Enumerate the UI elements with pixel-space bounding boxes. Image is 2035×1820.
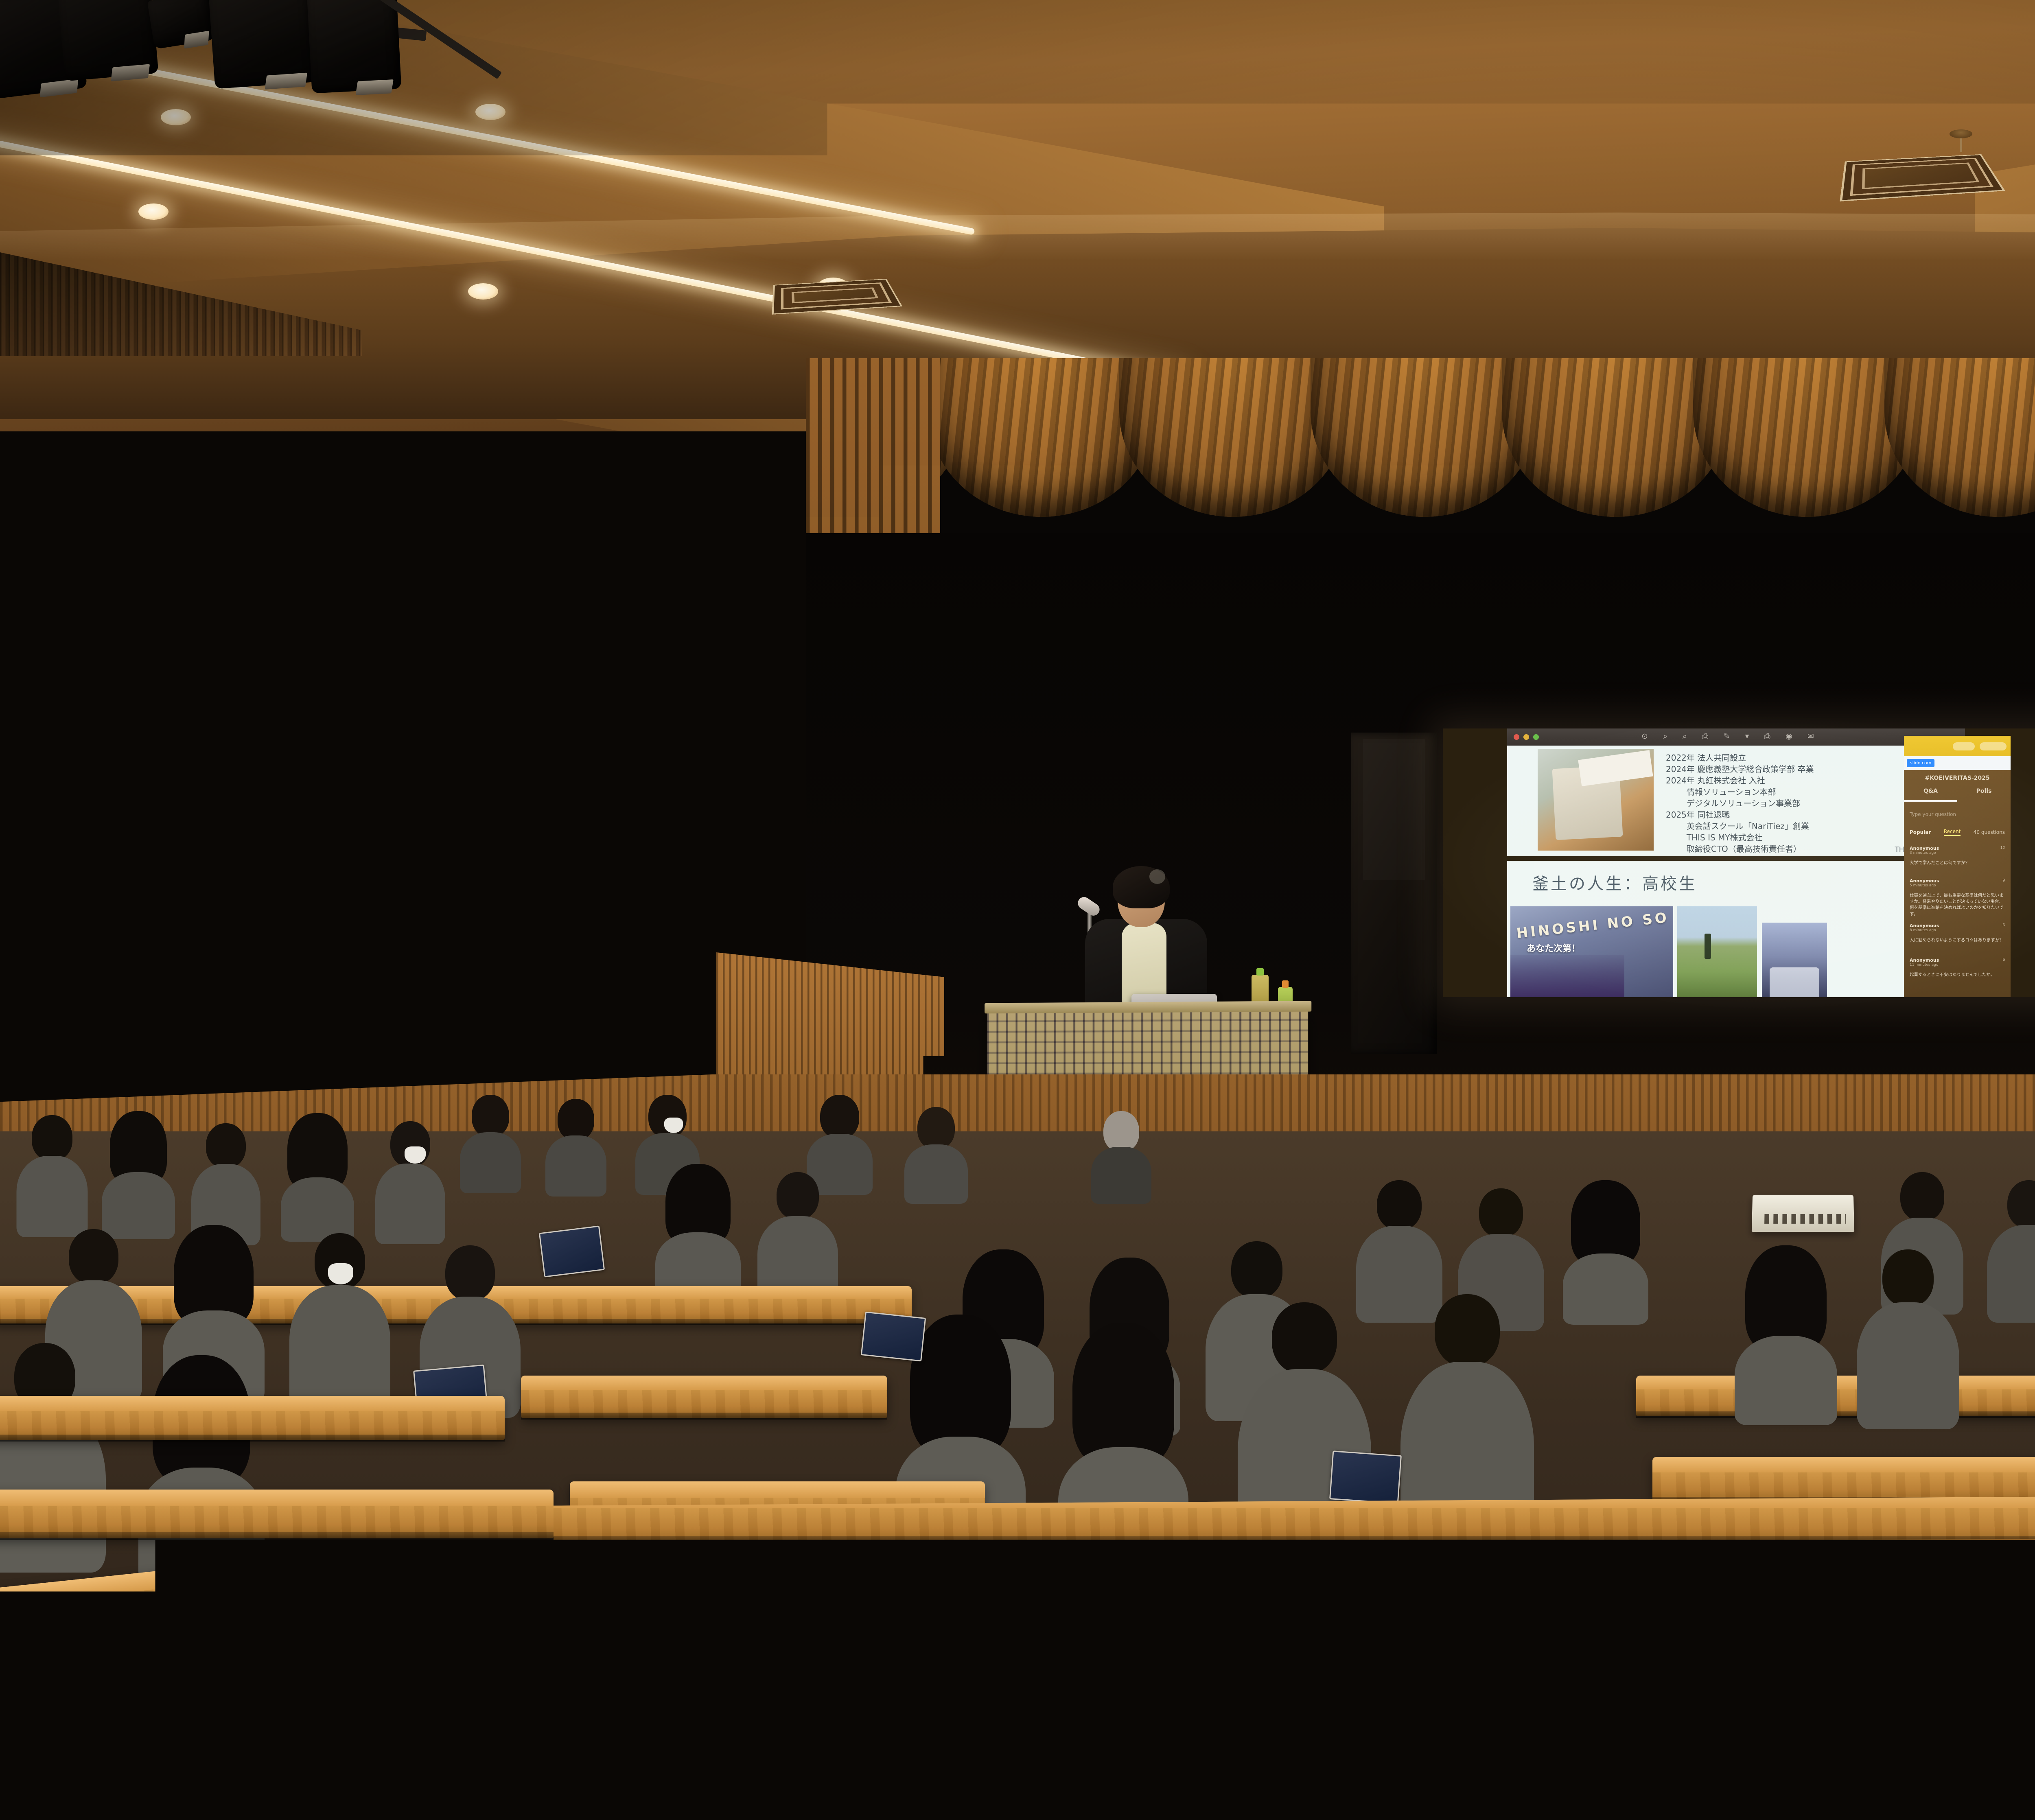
browser-pill-b[interactable] (1980, 742, 2007, 750)
audience-person (289, 1233, 391, 1408)
tablet-device[interactable] (861, 1311, 926, 1361)
slido-tabs[interactable]: Q&A Polls (1904, 788, 2011, 802)
recessed-downlight-icon (468, 283, 498, 300)
podium-top-surface (985, 1001, 1311, 1013)
audience-person (16, 1115, 88, 1237)
audience-person (545, 1099, 606, 1192)
qa-vote-count[interactable]: 5 (2002, 958, 2005, 962)
banner-headline: HINOSHI NO SO (1516, 908, 1673, 942)
banner-subline: あなた次第！ (1527, 941, 1580, 954)
slide-upper: 2022年 法人共同設立 2024年 慶應義塾大学総合政策学部 卒業 2024年… (1507, 746, 1965, 856)
qa-timestamp: 3 minutes ago (1910, 851, 2005, 855)
tablet-device[interactable] (539, 1225, 605, 1277)
sprinkler-head-icon (1950, 129, 1972, 138)
slido-sort-row[interactable]: Popular Recent 40 questions (1910, 829, 2005, 836)
audience-person (1986, 1180, 2035, 1323)
bench-row[interactable] (0, 1396, 505, 1440)
qa-vote-count[interactable]: 9 (2002, 878, 2005, 883)
bench-leg (460, 1693, 479, 1820)
slido-event-code: #KOEIVERITAS-2025 (1904, 775, 2011, 781)
qa-timestamp: 8 minutes ago (1910, 928, 2005, 932)
qa-list-item[interactable]: Anonymous 3 minutes ago 12 大学で学んだことは何ですか… (1910, 846, 2005, 866)
recessed-downlight-icon (475, 104, 505, 120)
qa-vote-count[interactable]: 12 (2000, 846, 2005, 850)
question-count: 40 questions (1974, 829, 2005, 835)
tab-polls[interactable]: Polls (1957, 788, 2011, 802)
window-close-dot-icon[interactable] (1514, 734, 1519, 740)
slido-qa-panel[interactable]: slido.com #KOEIVERITAS-2025 Q&A Polls Ty… (1904, 736, 2011, 997)
audience-person (1856, 1249, 1960, 1428)
qa-author: Anonymous (1910, 878, 2005, 884)
bench-row[interactable] (521, 1376, 887, 1418)
presenter-hair (1113, 866, 1170, 908)
slide-photo-group (1762, 923, 1827, 997)
pa-speaker-cabinet-left (1351, 733, 1437, 1054)
qa-author: Anonymous (1910, 958, 2005, 963)
audience-person (757, 1172, 838, 1302)
audience-person (1091, 1111, 1152, 1201)
question-input[interactable]: Type your question (1910, 812, 2004, 817)
bench-row[interactable] (0, 1490, 554, 1538)
tab-qa[interactable]: Q&A (1904, 788, 1957, 802)
wall-acoustic-recess-panel (118, 480, 322, 741)
qa-list-item[interactable]: Anonymous 8 minutes ago 6 人に勧められないようにするコ… (1910, 923, 2005, 943)
window-zoom-dot-icon[interactable] (1533, 734, 1539, 740)
theatre-spotlight-icon (57, 0, 158, 81)
qa-list-item[interactable]: Anonymous 11 minutes ago 5 起業するときに不安はありま… (1910, 958, 2005, 978)
audience-person (1563, 1180, 1648, 1323)
qa-body: 起業するときに不安はありませんでしたか。 (1910, 972, 2005, 978)
audience-person (655, 1164, 741, 1298)
audience-person (281, 1113, 354, 1239)
face-mask-icon (664, 1118, 683, 1133)
face-mask-icon (405, 1146, 426, 1164)
auditorium-photo: ⊙ ⌕ ⌕ ⎙ ✎ ▾ ⎙ ◉ ✉ 2022年 法人共同設立 2024年 慶應義… (0, 0, 2035, 1820)
audience-person (460, 1095, 521, 1188)
bench-row[interactable] (1652, 1457, 2035, 1503)
sort-recent[interactable]: Recent (1944, 829, 1961, 836)
qa-timestamp: 11 minutes ago (1910, 963, 2005, 967)
qa-body: 人に勧められないようにするコツはありますか？ (1910, 937, 2005, 943)
sort-popular[interactable]: Popular (1910, 829, 1931, 835)
qa-body: 仕事を選ぶ上で、最も重要な基準は何だと思いますか。将来やりたいことが決まっていな… (1910, 892, 2005, 917)
slide-app-toolbar: ⊙ ⌕ ⌕ ⎙ ✎ ▾ ⎙ ◉ ✉ (1507, 728, 1965, 746)
audience-person (102, 1111, 175, 1237)
recessed-downlight-icon (161, 109, 191, 125)
audience-person (138, 1355, 265, 1583)
theatre-spotlight-icon (307, 0, 402, 94)
audience-person (1734, 1245, 1838, 1424)
recessed-downlight-icon (138, 203, 168, 220)
slide-photo-banner: HINOSHI NO SO あなた次第！ (1510, 906, 1673, 997)
projection-screen: ⊙ ⌕ ⌕ ⎙ ✎ ▾ ⎙ ◉ ✉ 2022年 法人共同設立 2024年 慶應義… (1443, 728, 2035, 997)
slide-photo-golf (1677, 906, 1757, 997)
browser-toolbar (1904, 736, 2011, 756)
audience-person (904, 1107, 969, 1201)
bench-leg (1213, 1677, 1232, 1820)
slide-photo-hands (1538, 749, 1654, 851)
toolbar-icon-row[interactable]: ⊙ ⌕ ⌕ ⎙ ✎ ▾ ⎙ ◉ ✉ (1641, 732, 1821, 741)
qa-timestamp: 5 minutes ago (1910, 884, 2005, 888)
theatre-spotlight-icon (147, 0, 215, 49)
browser-url-bar[interactable]: slido.com (1904, 756, 2011, 770)
window-minimize-dot-icon[interactable] (1523, 734, 1529, 740)
slide-lower: 釜土の人生：高校生 HINOSHI NO SO あなた次第！ (1507, 861, 1965, 997)
qa-author: Anonymous (1910, 846, 2005, 851)
theatre-spotlight-icon (208, 0, 317, 89)
qa-list-item[interactable]: Anonymous 5 minutes ago 9 仕事を選ぶ上で、最も重要な基… (1910, 878, 2005, 917)
face-mask-icon (328, 1263, 353, 1284)
slide-title: 釜土の人生：高校生 (1532, 871, 1697, 894)
browser-pill-a[interactable] (1953, 742, 1975, 750)
tablet-device[interactable] (1329, 1450, 1402, 1504)
projector (1752, 1195, 1854, 1232)
audience-person (374, 1121, 446, 1243)
qa-vote-count[interactable]: 6 (2002, 923, 2005, 927)
url-chip: slido.com (1907, 759, 1934, 767)
qa-author: Anonymous (1910, 923, 2005, 928)
qa-body: 大学で学んだことは何ですか？ (1910, 860, 2005, 866)
